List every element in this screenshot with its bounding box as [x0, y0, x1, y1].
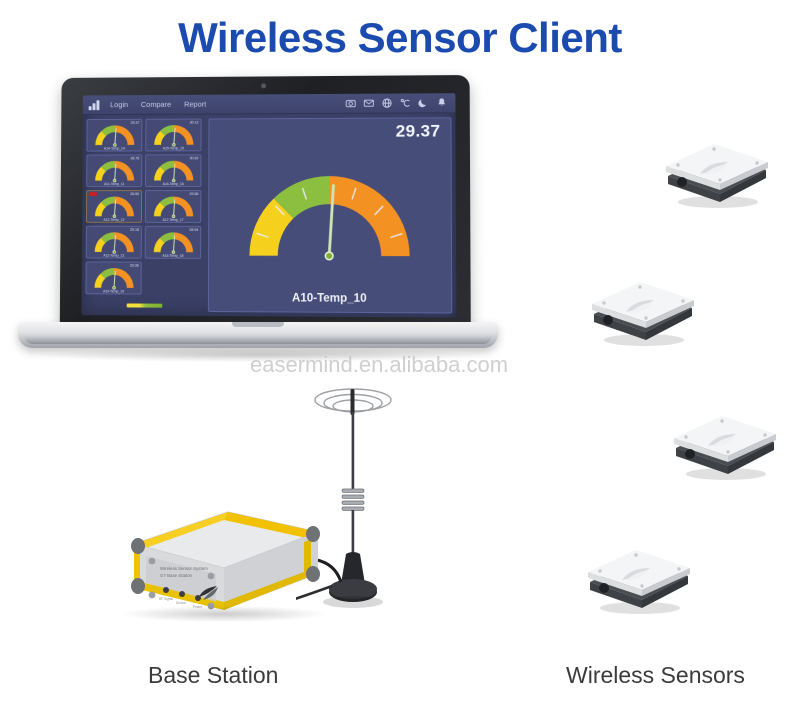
- sensor-port-icon: [603, 315, 613, 325]
- color-scale-legend: [127, 303, 163, 307]
- camera-icon[interactable]: [345, 98, 356, 109]
- gauge-thumbnail-label: A18-Temp_18: [146, 253, 200, 257]
- caption-wireless-sensors: Wireless Sensors: [566, 662, 745, 689]
- sensor-port-icon: [677, 177, 687, 187]
- thumbnail-panel: 29.37 A14-Temp_1430.12 A15-Temp_1528.76 …: [85, 119, 204, 312]
- gauge-thumbnail[interactable]: 30.62 A16-Temp_16: [145, 154, 201, 187]
- main-gauge-svg: [234, 161, 426, 268]
- menu-login[interactable]: Login: [110, 100, 128, 109]
- signal-bars-icon: [89, 99, 102, 110]
- sensor-port-icon: [599, 583, 609, 593]
- mail-icon[interactable]: [363, 98, 374, 109]
- wireless-sensor-2: [584, 270, 702, 350]
- main-gauge[interactable]: [209, 135, 451, 293]
- svg-text:RF Signal: RF Signal: [159, 597, 173, 601]
- gauge-thumbnail-label: A16-Temp_16: [146, 182, 200, 186]
- gauge-thumbnail[interactable]: 30.12 A15-Temp_15: [145, 119, 201, 152]
- wireless-sensor-1: [658, 132, 776, 212]
- laptop-base: [18, 322, 498, 348]
- gauge-thumbnail-label: A14-Temp_14: [87, 146, 141, 150]
- sensor-port-icon: [685, 449, 695, 459]
- gauge-thumbnail-label: A17-Temp_17: [146, 217, 200, 221]
- gauge-thumbnail[interactable]: 28.94 A18-Temp_18: [145, 226, 202, 259]
- watermark: easermind.en.alibaba.com: [250, 352, 508, 378]
- menu-compare[interactable]: Compare: [141, 100, 171, 109]
- gauge-thumbnail-label: A12-Temp_12: [87, 217, 141, 221]
- celsius-icon[interactable]: [400, 97, 411, 108]
- laptop-notch: [232, 322, 284, 327]
- gauge-thumbnail[interactable]: 29.06 A19-Temp_19: [85, 261, 141, 294]
- laptop-lid: Login Compare Report: [60, 75, 471, 328]
- base-station-shadow: [124, 606, 324, 622]
- gauge-thumbnail[interactable]: 29.56 A17-Temp_17: [145, 190, 201, 223]
- app-toolbar: Login Compare Report: [83, 93, 456, 115]
- bell-icon[interactable]: [436, 97, 447, 108]
- toolbar-icon-group: [345, 97, 449, 109]
- gauge-thumbnail[interactable]: 29.37 A14-Temp_14: [86, 119, 142, 152]
- gauge-thumbnail-label: A19-Temp_19: [86, 289, 140, 293]
- app-body: 29.37 A14-Temp_1430.12 A15-Temp_1528.76 …: [81, 113, 456, 317]
- antenna-coil: [342, 489, 364, 510]
- poster-canvas: Wireless Sensor Client Login Compare Rep…: [0, 0, 800, 714]
- base-station-label-line2: G7 Base Station: [160, 573, 193, 578]
- laptop-illustration: Login Compare Report: [18, 76, 498, 376]
- caption-base-station: Base Station: [148, 662, 278, 689]
- gauge-thumbnail[interactable]: 26.50 A12-Temp_12: [86, 190, 142, 223]
- main-gauge-label: A10-Temp_10: [209, 292, 451, 313]
- app-screen: Login Compare Report: [81, 93, 456, 317]
- wireless-sensor-4: [580, 538, 698, 618]
- base-station-label-line1: Wireless Sensor System: [160, 566, 208, 571]
- gauge-thumbnail[interactable]: 28.76 A11-Temp_11: [86, 154, 142, 187]
- gauge-thumbnail[interactable]: 29.18 A13-Temp_13: [86, 226, 142, 259]
- laptop-lip: [24, 335, 492, 344]
- main-gauge-panel: 29.37: [208, 117, 452, 313]
- svg-text:Device: Device: [176, 601, 186, 605]
- gauge-thumbnail-label: A13-Temp_13: [87, 253, 141, 257]
- gauge-thumbnail-label: A11-Temp_11: [87, 182, 141, 186]
- page-title: Wireless Sensor Client: [0, 14, 800, 62]
- wireless-sensor-3: [666, 404, 784, 484]
- webcam-icon: [261, 83, 266, 88]
- thumbnail-grid: 29.37 A14-Temp_1430.12 A15-Temp_1528.76 …: [85, 119, 204, 295]
- moon-icon[interactable]: [418, 97, 429, 108]
- globe-icon[interactable]: [381, 98, 392, 109]
- menu-report[interactable]: Report: [184, 100, 206, 109]
- base-station-device: Wireless Sensor System G7 Base Station R…: [112, 498, 342, 633]
- gauge-thumbnail-label: A15-Temp_15: [146, 146, 200, 150]
